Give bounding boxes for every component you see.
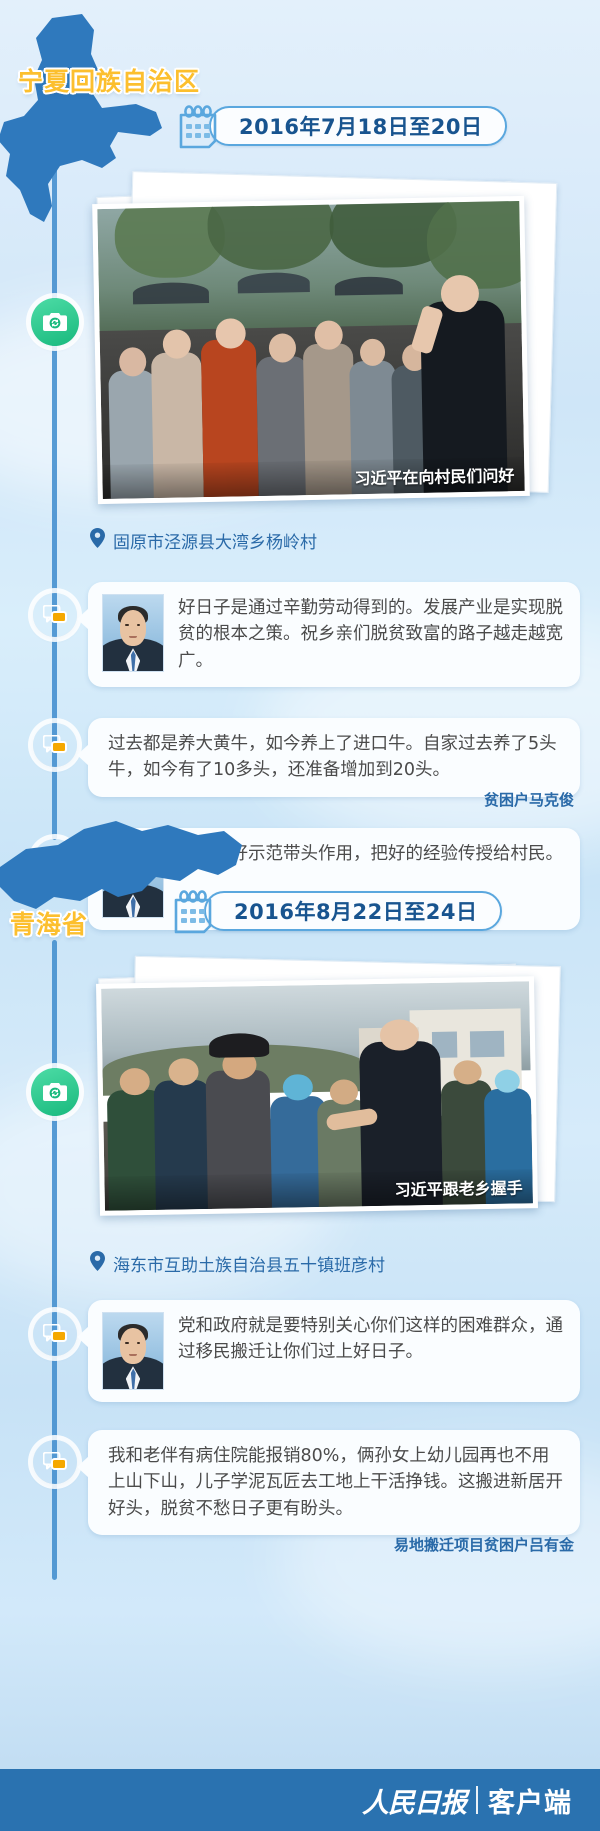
photo-card-1: 习近平在向村民们问好 [80,165,580,525]
footer-bar: 人民日报 客户端 [0,1769,600,1831]
province-name-2: 青海省 [10,905,88,941]
footer-brand: 人民日报 [362,1781,466,1820]
chat-badge [33,723,77,767]
quote-text-1-2: 过去都是养大黄牛，如今养上了进口牛。自家过去养了5头牛，如今有了10多头，还准备… [88,718,580,797]
map-pin-icon [90,1251,105,1276]
location-text-2: 海东市互助土族自治县五十镇班彦村 [113,1251,385,1276]
timeline-spine [52,940,57,1580]
quote-text-2-1: 党和政府就是要特别关心你们这样的困难群众，通过移民搬迁让你们过上好日子。 [164,1300,580,1379]
photo-main: 习近平跟老乡握手 [96,976,538,1216]
chat-badge [33,1440,77,1484]
province-header-2: 青海省 2016年8月22日至24日 [0,805,600,975]
footer-divider [476,1786,478,1814]
location-text-1: 固原市泾源县大湾乡杨岭村 [113,528,317,553]
province-header-1: 宁夏回族自治区 2016年7月18日至20日 [0,0,600,170]
chat-bubble-icon [43,1324,67,1345]
location-row-1: 固原市泾源县大湾乡杨岭村 [90,528,317,553]
date-row-2: 2016年8月22日至24日 [170,888,502,934]
date-row-1: 2016年7月18日至20日 [175,103,507,149]
camera-icon [42,1081,68,1103]
chat-badge [33,593,77,637]
camera-badge-1 [31,298,79,346]
quote-text-2-2: 我和老伴有病住院能报销80%，俩孙女上幼儿园再也不用上山下山，儿子学泥瓦匠去工地… [88,1430,580,1535]
date-pill-2: 2016年8月22日至24日 [204,891,502,931]
chat-bubble-icon [43,605,67,626]
photo-image-qinghai: 习近平跟老乡握手 [101,981,533,1210]
quote-bubble-1-2: 过去都是养大黄牛，如今养上了进口牛。自家过去养了5头牛，如今有了10多头，还准备… [88,718,580,797]
photo-card-2: 习近平跟老乡握手 [80,955,580,1235]
footer-product: 客户端 [488,1781,572,1820]
chat-bubble-icon [43,735,67,756]
quote-text-1-1: 好日子是通过辛勤劳动得到的。发展产业是实现脱贫的根本之策。祝乡亲们脱贫致富的路子… [164,582,580,687]
chat-bubble-icon [43,1452,67,1473]
photo-main: 习近平在向村民们问好 [92,196,530,504]
province-name-1: 宁夏回族自治区 [18,62,200,98]
photo-image-ningxia: 习近平在向村民们问好 [97,201,524,499]
chat-badge [33,1312,77,1356]
quote-attribution-2-2: 易地搬迁项目贫困户吕有金 [394,1534,574,1555]
date-pill-1: 2016年7月18日至20日 [209,106,507,146]
photo-caption-1: 习近平在向村民们问好 [102,457,525,499]
calendar-icon [170,888,216,934]
avatar [102,594,164,672]
camera-badge-2 [31,1068,79,1116]
calendar-icon [175,103,221,149]
map-pin-icon [90,528,105,553]
quote-bubble-2-1: 党和政府就是要特别关心你们这样的困难群众，通过移民搬迁让你们过上好日子。 [88,1300,580,1402]
avatar [102,1312,164,1390]
quote-bubble-1-1: 好日子是通过辛勤劳动得到的。发展产业是实现脱贫的根本之策。祝乡亲们脱贫致富的路子… [88,582,580,687]
camera-icon [42,311,68,333]
photo-caption-2: 习近平跟老乡握手 [104,1169,533,1210]
quote-bubble-2-2: 我和老伴有病住院能报销80%，俩孙女上幼儿园再也不用上山下山，儿子学泥瓦匠去工地… [88,1430,580,1535]
footer-logo: 人民日报 客户端 [362,1781,572,1820]
location-row-2: 海东市互助土族自治县五十镇班彦村 [90,1251,385,1276]
